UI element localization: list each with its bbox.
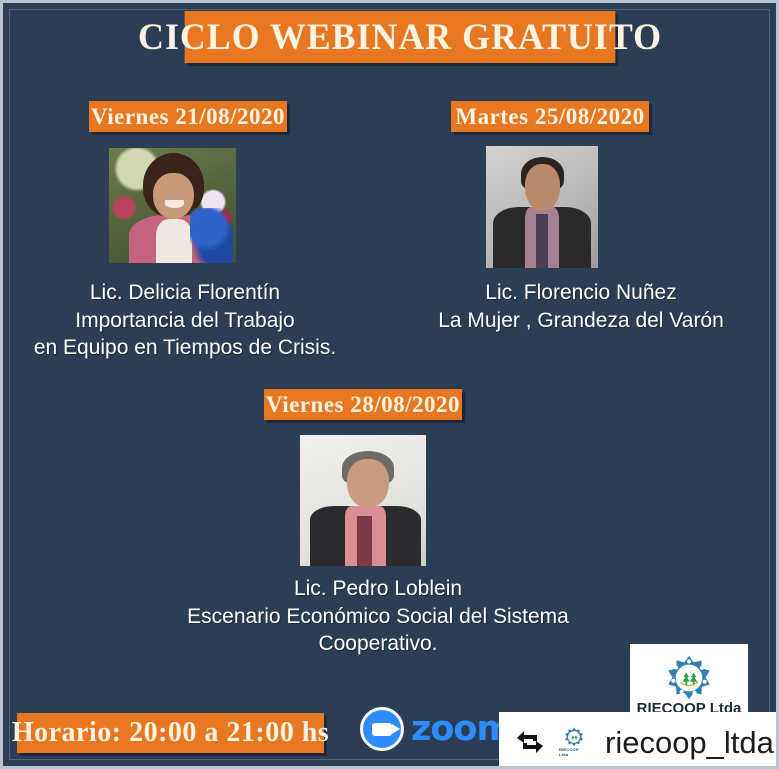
date-badge-session-3: Viernes 28/08/2020 xyxy=(264,389,462,420)
speaker-photo-pedro-loblein xyxy=(300,435,426,566)
riecoop-mini-caption: RIECOOP Ltda xyxy=(559,747,589,757)
portrait-face xyxy=(525,164,560,210)
instagram-repost-overlay[interactable]: RIECOOP Ltda riecoop_ltda xyxy=(499,712,779,769)
schedule-banner: Horario: 20:00 a 21:00 hs xyxy=(17,713,324,753)
speaker-info-delicia-florentin: Lic. Delicia Florentín Importancia del T… xyxy=(11,279,359,362)
date-badge-session-2: Martes 25/08/2020 xyxy=(451,101,649,132)
poster-title-banner: CICLO WEBINAR GRATUITO xyxy=(185,11,616,63)
portrait-tie xyxy=(536,214,547,268)
riecoop-mini-logo-icon: RIECOOP Ltda xyxy=(559,727,589,757)
portrait-tie xyxy=(357,516,372,566)
photo-blue-flower xyxy=(190,208,233,263)
speaker-photo-florencio-nunez xyxy=(486,146,598,268)
riecoop-star-trees-logo-icon xyxy=(666,655,712,701)
speaker-info-pedro-loblein: Lic. Pedro Loblein Escenario Económico S… xyxy=(143,575,613,658)
zoom-logo: zoom xyxy=(360,705,520,753)
zoom-video-camera-icon xyxy=(360,707,404,751)
speaker-photo-delicia-florentin xyxy=(109,148,236,263)
repost-username[interactable]: riecoop_ltda xyxy=(605,727,774,758)
speaker-info-florencio-nunez: Lic. Florencio Nuñez La Mujer , Grandeza… xyxy=(403,279,759,334)
webinar-poster: CICLO WEBINAR GRATUITO Viernes 21/08/202… xyxy=(0,0,779,769)
date-badge-session-1: Viernes 21/08/2020 xyxy=(89,101,287,132)
portrait-shirt xyxy=(156,219,192,263)
repost-arrows-icon[interactable] xyxy=(515,729,545,755)
zoom-wordmark: zoom xyxy=(411,712,512,747)
portrait-smile xyxy=(165,200,184,208)
